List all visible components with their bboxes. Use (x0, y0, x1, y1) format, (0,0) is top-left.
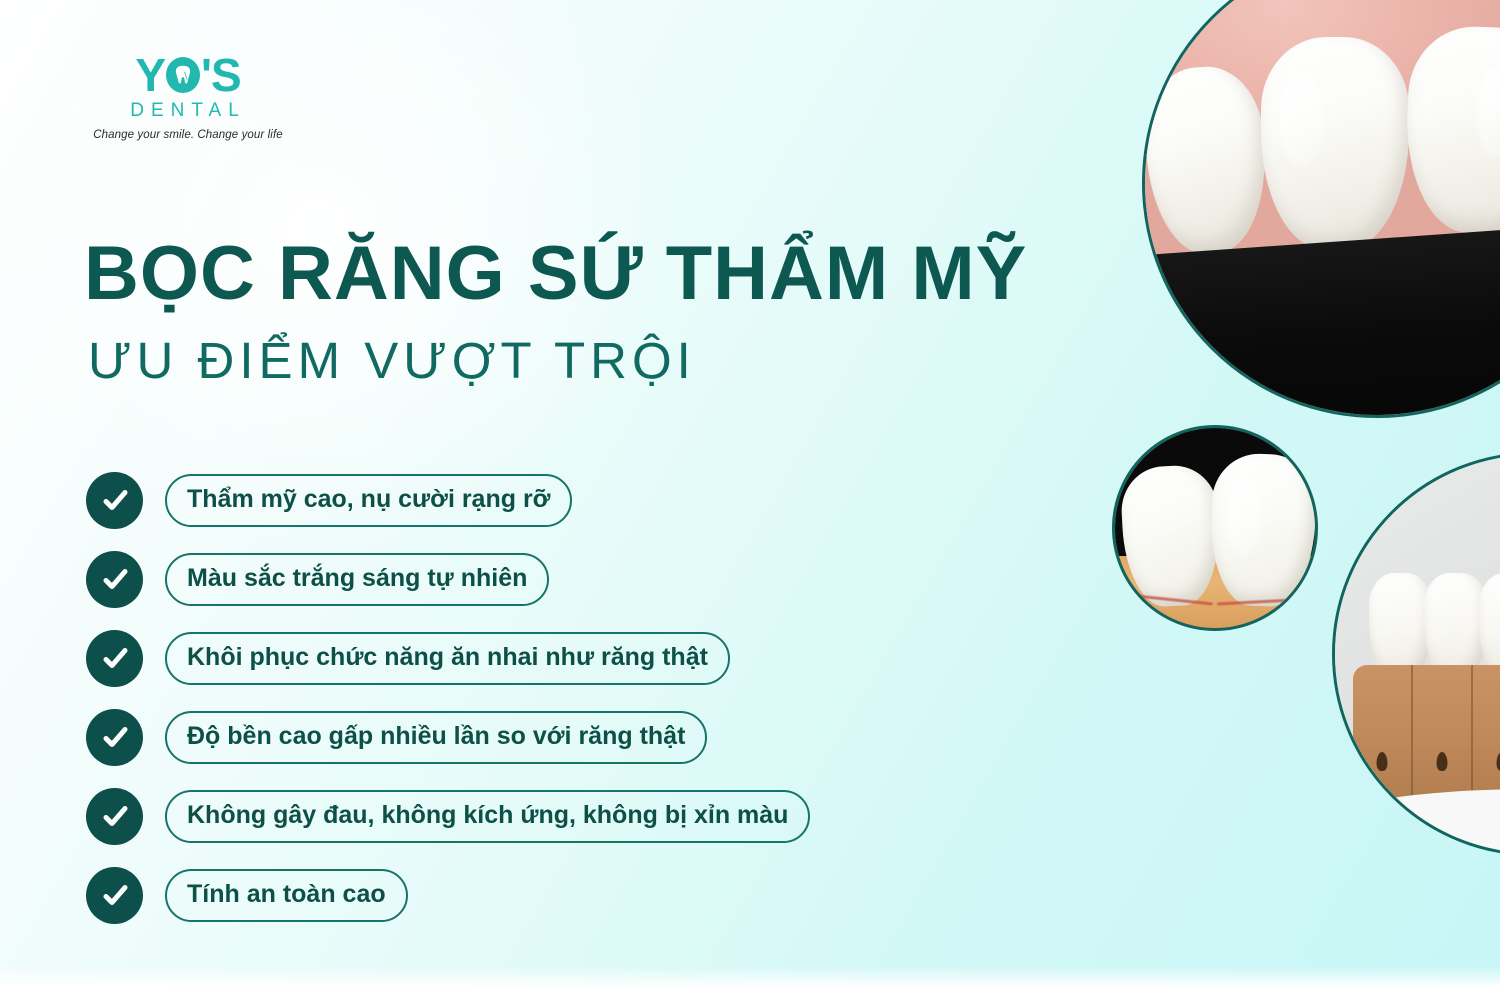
check-icon-glyph (100, 565, 130, 595)
check-icon-glyph (100, 644, 130, 674)
poster-canvas: Y 'S DENTAL Change your smile. Change yo… (0, 0, 1500, 1000)
brand-logo: Y 'S DENTAL Change your smile. Change yo… (88, 52, 288, 141)
front-teeth-closeup-photo (1142, 0, 1500, 418)
logo-wordmark: Y 'S (88, 52, 288, 98)
check-icon (86, 630, 143, 687)
check-icon (86, 709, 143, 766)
check-icon (86, 472, 143, 529)
dental-bridge-plaster-model-photo (1332, 452, 1500, 856)
list-item: Thẩm mỹ cao, nụ cười rạng rỡ (86, 472, 810, 529)
benefit-label: Không gây đau, không kích ứng, không bị … (165, 790, 810, 843)
check-icon-glyph (100, 723, 130, 753)
benefit-label: Tính an toàn cao (165, 869, 408, 922)
benefit-label: Màu sắc trắng sáng tự nhiên (165, 553, 549, 606)
tooth-shape (1261, 37, 1409, 249)
page-title: BỌC RĂNG SỨ THẨM MỸ (84, 236, 1027, 312)
list-item: Khôi phục chức năng ăn nhai như răng thậ… (86, 630, 810, 687)
tooth-gloss (1476, 65, 1500, 158)
benefit-label: Khôi phục chức năng ăn nhai như răng thậ… (165, 632, 730, 685)
tooth-gloss (1279, 71, 1325, 167)
list-item: Độ bền cao gấp nhiều lần so với răng thậ… (86, 709, 810, 766)
logo-subtext: DENTAL (88, 100, 288, 122)
benefit-label: Độ bền cao gấp nhiều lần so với răng thậ… (165, 711, 707, 764)
check-icon-glyph (100, 881, 130, 911)
benefits-list: Thẩm mỹ cao, nụ cười rạng rỡ Màu sắc trắ… (86, 472, 810, 924)
tooth-icon-glyph (175, 65, 192, 85)
page-subtitle: ƯU ĐIỂM VƯỢT TRỘI (88, 334, 696, 388)
die-segment (1353, 665, 1413, 815)
check-icon (86, 551, 143, 608)
tooth-icon (166, 57, 200, 93)
check-icon-glyph (100, 486, 130, 516)
logo-letters-s: 'S (201, 52, 241, 98)
check-icon-glyph (100, 802, 130, 832)
list-item: Màu sắc trắng sáng tự nhiên (86, 551, 810, 608)
list-item: Không gây đau, không kích ứng, không bị … (86, 788, 810, 845)
two-crowns-model-photo (1112, 425, 1318, 631)
logo-tagline: Change your smile. Change your life (88, 129, 288, 141)
list-item: Tính an toàn cao (86, 867, 810, 924)
check-icon (86, 788, 143, 845)
mouth-shadow (1142, 221, 1500, 418)
logo-letter-y: Y (135, 52, 165, 98)
benefit-label: Thẩm mỹ cao, nụ cười rạng rỡ (165, 474, 572, 527)
check-icon (86, 867, 143, 924)
bottom-white-band (0, 966, 1500, 1000)
crown-gloss (1226, 477, 1263, 558)
